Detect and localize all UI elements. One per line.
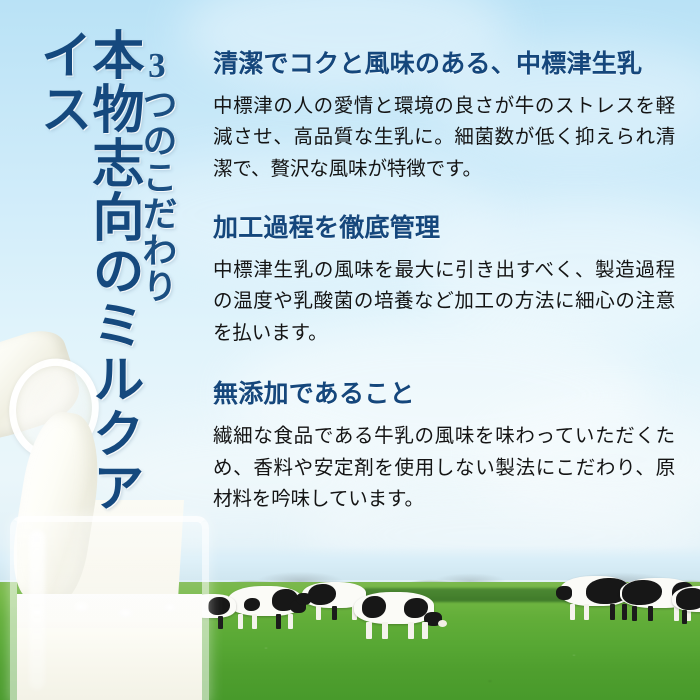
feature-section-1: 清潔でコクと風味のある、中標津生乳 中標津の人の愛情と環境の良さが牛のストレスを… — [213, 50, 675, 184]
cow-icon — [672, 586, 700, 626]
feature-section-2: 加工過程を徹底管理 中標津生乳の風味を最大に引き出すべく、製造過程の温度や乳酸菌… — [213, 214, 675, 348]
feature-heading-2: 加工過程を徹底管理 — [213, 214, 675, 244]
feature-body-3: 繊細な食品である牛乳の風味を味わっていただくため、香料や安定剤を使用しない製法に… — [213, 420, 675, 515]
feature-heading-1: 清潔でコクと風味のある、中標津生乳 — [213, 50, 675, 80]
feature-heading-3: 無添加であること — [213, 380, 675, 410]
headline-sub-label: 3つのこだわり — [138, 28, 174, 305]
product-poster: 3つのこだわり 本物志向のミルクアイス 清潔でコクと風味のある、中標津生乳 中標… — [0, 0, 700, 700]
headline-main-label: 本物志向のミルクアイス — [34, 28, 138, 568]
vertical-headline: 3つのこだわり 本物志向のミルクアイス — [34, 28, 180, 568]
feature-body-1: 中標津の人の愛情と環境の良さが牛のストレスを軽減させ、高品質な生乳に。細菌数が低… — [213, 90, 675, 185]
feature-body-2: 中標津生乳の風味を最大に引き出すべく、製造過程の温度や乳酸菌の培養など加工の方法… — [213, 254, 675, 349]
cow-icon — [354, 592, 434, 640]
feature-section-3: 無添加であること 繊細な食品である牛乳の風味を味わっていただくため、香料や安定剤… — [213, 380, 675, 514]
feature-list: 清潔でコクと風味のある、中標津生乳 中標津の人の愛情と環境の良さが牛のストレスを… — [213, 50, 675, 541]
cow-icon — [228, 586, 302, 630]
